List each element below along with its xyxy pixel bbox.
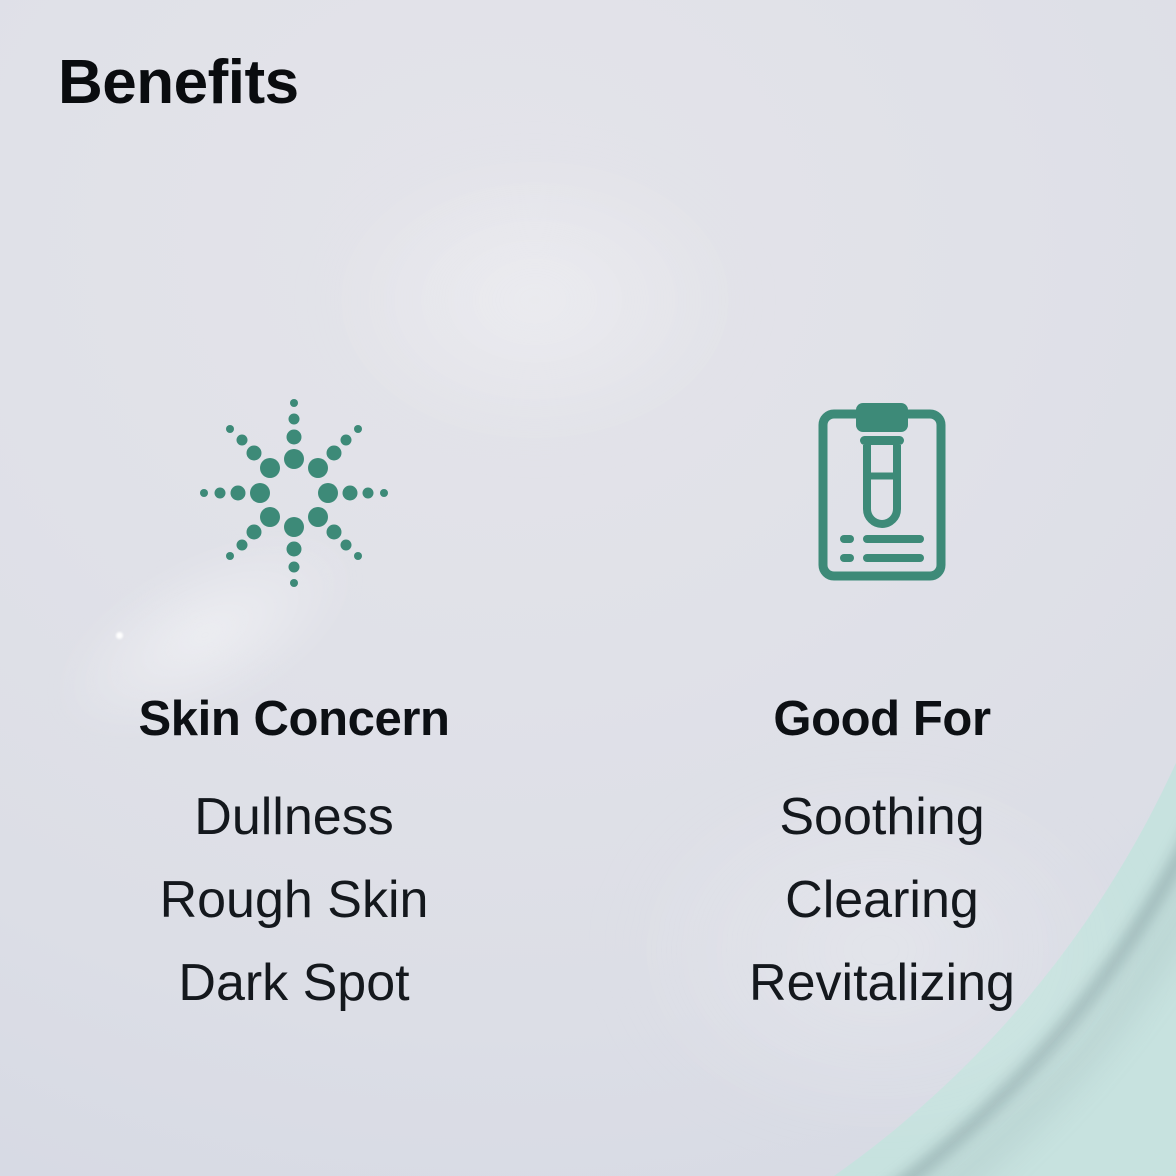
sparkle-dot	[354, 425, 362, 433]
sparkle-dot	[226, 425, 234, 433]
sparkle-dot	[236, 539, 247, 550]
sparkle-dot	[247, 525, 262, 540]
sparkle-dot	[231, 485, 246, 500]
sparkle-icon	[194, 393, 394, 593]
list-item: Dark Spot	[178, 942, 409, 1025]
benefit-list-skin-concern: Dullness Rough Skin Dark Spot	[160, 776, 429, 1026]
content-layer: Benefits Skin Concern Dullness Rough Ski…	[0, 0, 1176, 1176]
sparkle-dot	[318, 483, 338, 503]
clipboard-test-tube-icon	[818, 403, 946, 583]
sparkle-dot	[290, 579, 298, 587]
sparkle-dot	[260, 507, 280, 527]
sparkle-dot	[326, 445, 341, 460]
list-item: Clearing	[785, 859, 979, 942]
sparkle-dot	[287, 541, 302, 556]
list-item: Soothing	[779, 776, 984, 859]
benefits-infographic: Benefits Skin Concern Dullness Rough Ski…	[0, 0, 1176, 1176]
sparkle-dot	[200, 489, 208, 497]
sparkle-dot	[226, 552, 234, 560]
page-title: Benefits	[58, 52, 299, 114]
sparkle-dot	[354, 552, 362, 560]
benefit-column-skin-concern: Skin Concern Dullness Rough Skin Dark Sp…	[0, 390, 588, 1026]
sparkle-dot	[343, 485, 358, 500]
sparkle-dot	[326, 525, 341, 540]
sparkle-dot	[236, 435, 247, 446]
sparkle-dot	[363, 487, 374, 498]
benefit-list-good-for: Soothing Clearing Revitalizing	[749, 776, 1015, 1026]
sparkle-dot	[289, 561, 300, 572]
icon-slot-left	[194, 390, 394, 595]
list-item: Dullness	[194, 776, 393, 859]
sparkle-dot	[284, 517, 304, 537]
sparkle-dot	[287, 429, 302, 444]
sparkle-dot	[215, 487, 226, 498]
benefit-column-good-for: Good For Soothing Clearing Revitalizing	[588, 390, 1176, 1026]
sparkle-dot	[308, 458, 328, 478]
list-item: Revitalizing	[749, 942, 1015, 1025]
benefit-columns: Skin Concern Dullness Rough Skin Dark Sp…	[0, 390, 1176, 1026]
sparkle-dot	[380, 489, 388, 497]
icon-slot-right	[818, 390, 946, 595]
sparkle-dot	[290, 399, 298, 407]
sparkle-dot	[247, 445, 262, 460]
sparkle-dot	[341, 435, 352, 446]
sparkle-dot	[260, 458, 280, 478]
sparkle-dot	[289, 413, 300, 424]
column-heading-good-for: Good For	[773, 695, 990, 744]
sparkle-dot	[308, 507, 328, 527]
column-heading-skin-concern: Skin Concern	[138, 695, 449, 744]
sparkle-dot	[341, 539, 352, 550]
sparkle-dot	[250, 483, 270, 503]
list-item: Rough Skin	[160, 859, 429, 942]
sparkle-dot	[284, 449, 304, 469]
